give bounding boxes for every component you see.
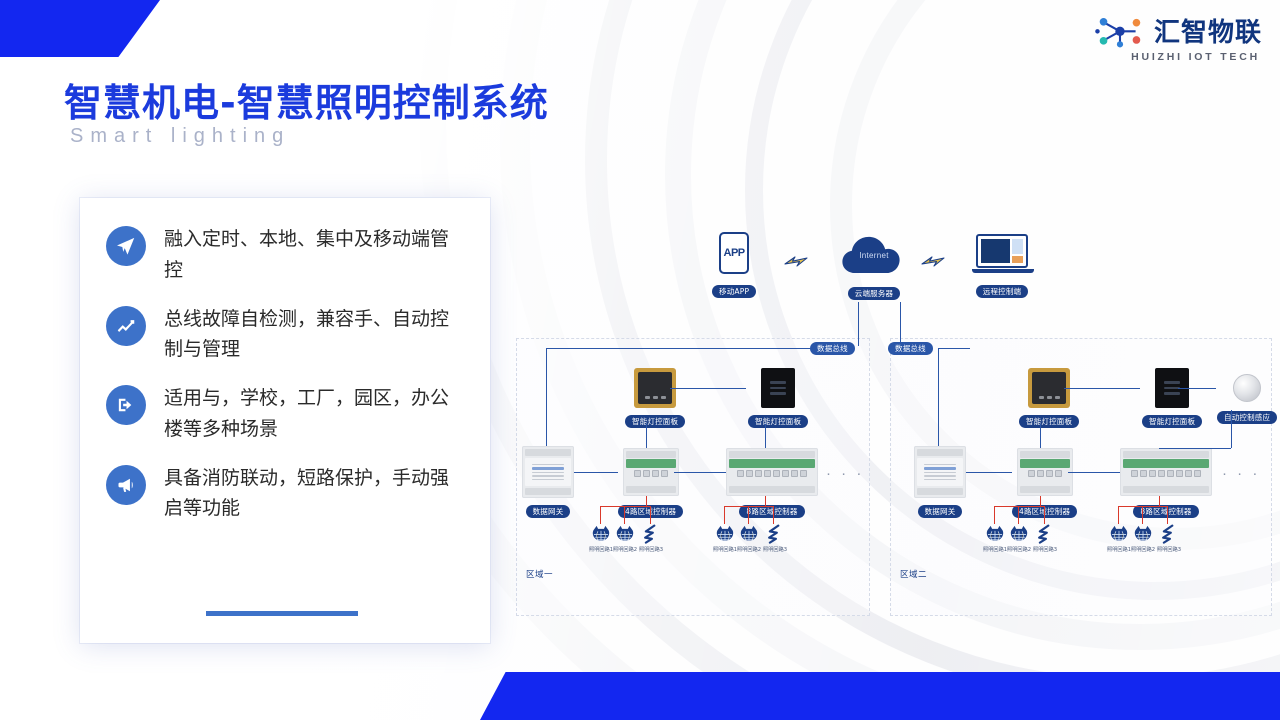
gateway-device-icon bbox=[522, 446, 574, 498]
feature-item: 适用与，学校，工厂，园区，办公楼等多种场景 bbox=[106, 383, 468, 445]
feature-text: 总线故障自检测，兼容手、自动控制与管理 bbox=[164, 304, 454, 366]
node-label-remote-control: 远程控制端 bbox=[976, 285, 1029, 298]
power-leg-3-zone1 bbox=[650, 506, 651, 524]
node-label-mobile-app: 移动APP bbox=[712, 285, 756, 298]
circuit-label: 照明回路1 bbox=[713, 546, 737, 553]
wire-panel-to-panel-zone2 bbox=[1064, 388, 1140, 389]
circuit-label: 照明回路1 bbox=[589, 546, 613, 553]
circuit-label: 照明回路3 bbox=[763, 546, 787, 553]
wire-sensor-down-zone2 bbox=[1231, 410, 1232, 448]
zone-label-2: 区域二 bbox=[900, 568, 927, 580]
power-leg-6-zone2 bbox=[1167, 506, 1168, 524]
lamp-icon bbox=[738, 524, 760, 544]
bus-drop-left bbox=[546, 348, 547, 452]
power-drop-ctrl4-zone1 bbox=[646, 496, 647, 506]
wire-icon bbox=[1158, 524, 1180, 544]
circuit-label: 照明回路2 bbox=[1007, 546, 1031, 553]
node-gateway-zone1[interactable]: 数据网关 bbox=[522, 446, 574, 518]
node-label-light-panel-gold-zone2: 智能灯控面板 bbox=[1019, 415, 1079, 428]
feature-card: 融入定时、本地、集中及移动端管控 总线故障自检测，兼容手、自动控制与管理 适用与… bbox=[80, 198, 490, 643]
wire-cloud-to-bus-right bbox=[900, 302, 901, 346]
din-controller-icon bbox=[1120, 448, 1212, 496]
light-control-panel-icon bbox=[761, 368, 795, 408]
lamp-icon bbox=[1008, 524, 1030, 544]
power-leg-4-zone2 bbox=[1118, 506, 1119, 524]
brand-name-cn: 汇智物联 bbox=[1154, 12, 1262, 49]
node-label-auto-sensor-zone2: 自动控制感应 bbox=[1217, 411, 1277, 424]
page-subtitle: Smart lighting bbox=[70, 125, 290, 148]
circuit-zone1-1[interactable]: 照明回路1 bbox=[589, 524, 613, 553]
lamp-icon bbox=[984, 524, 1006, 544]
wire-icon bbox=[640, 524, 662, 544]
feature-item: 具备消防联动，短路保护，手动强启等功能 bbox=[106, 463, 468, 525]
power-leg-5-zone2 bbox=[1142, 506, 1143, 524]
wire-icon bbox=[764, 524, 786, 544]
circuit-zone1-2[interactable]: 照明回路2 bbox=[613, 524, 637, 553]
system-architecture-diagram: 区域一 区域二 APP 移动APP Internet 云端服务器 远程控制端 bbox=[500, 210, 1280, 630]
power-drop-ctrl8-zone2 bbox=[1159, 496, 1160, 506]
wire-panel-to-panel-zone1 bbox=[670, 388, 746, 389]
wire-panel-black-down-zone1 bbox=[765, 424, 766, 448]
node-mobile-app[interactable]: APP 移动APP bbox=[712, 232, 756, 298]
node-light-panel-black-zone2[interactable]: 智能灯控面板 bbox=[1142, 368, 1202, 428]
circuit-zone1-4[interactable]: 照明回路1 bbox=[713, 524, 737, 553]
feature-text: 适用与，学校，工厂，园区，办公楼等多种场景 bbox=[164, 383, 454, 445]
bus-run-left bbox=[546, 348, 810, 349]
send-plane-icon bbox=[106, 226, 146, 266]
bus-label-2: 数据总线 bbox=[888, 342, 933, 355]
circuit-label: 照明回路1 bbox=[983, 546, 1007, 553]
circuit-label: 照明回路3 bbox=[1033, 546, 1057, 553]
node-label-gateway-zone1: 数据网关 bbox=[526, 505, 571, 518]
din-controller-icon bbox=[1017, 448, 1073, 496]
brand-name-en: HUIZHI IOT TECH bbox=[1131, 51, 1260, 63]
node-label-cloud-server: 云端服务器 bbox=[848, 287, 901, 300]
wire-gateway-to-ctrl4-zone1 bbox=[574, 472, 618, 473]
power-leg-1-zone1 bbox=[600, 506, 601, 524]
din-controller-icon bbox=[726, 448, 818, 496]
power-drop-ctrl8-zone1 bbox=[765, 496, 766, 506]
circuit-zone1-3[interactable]: 照明回路3 bbox=[639, 524, 663, 553]
ellipsis-zone1: · · · bbox=[826, 466, 864, 481]
node-light-panel-gold-zone1[interactable]: 智能灯控面板 bbox=[625, 368, 685, 428]
power-leg-5-zone1 bbox=[748, 506, 749, 524]
circuit-label: 照明回路2 bbox=[1131, 546, 1155, 553]
circuit-label: 照明回路2 bbox=[737, 546, 761, 553]
feature-item: 总线故障自检测，兼容手、自动控制与管理 bbox=[106, 304, 468, 366]
wireless-bolt-icon-right bbox=[920, 253, 946, 271]
circuit-zone2-5[interactable]: 照明回路2 bbox=[1131, 524, 1155, 553]
power-leg-1-zone2 bbox=[994, 506, 995, 524]
feature-text: 具备消防联动，短路保护，手动强启等功能 bbox=[164, 463, 454, 525]
circuit-zone2-1[interactable]: 照明回路1 bbox=[983, 524, 1007, 553]
molecule-network-icon bbox=[1094, 14, 1146, 48]
circuit-label: 照明回路1 bbox=[1107, 546, 1131, 553]
lamp-icon bbox=[1108, 524, 1130, 544]
node-remote-control[interactable]: 远程控制端 bbox=[972, 234, 1032, 298]
circuit-zone2-6[interactable]: 照明回路3 bbox=[1157, 524, 1181, 553]
page-title: 智慧机电-智慧照明控制系统 bbox=[64, 72, 549, 127]
lamp-icon bbox=[1132, 524, 1154, 544]
phone-icon: APP bbox=[719, 232, 749, 274]
node-label-light-panel-black-zone2: 智能灯控面板 bbox=[1142, 415, 1202, 428]
power-leg-2-zone2 bbox=[1018, 506, 1019, 524]
circuit-zone1-5[interactable]: 照明回路2 bbox=[737, 524, 761, 553]
wire-panel-to-sensor-zone2 bbox=[1178, 388, 1216, 389]
lamp-icon bbox=[714, 524, 736, 544]
node-gateway-zone2[interactable]: 数据网关 bbox=[914, 446, 966, 518]
lamp-icon bbox=[614, 524, 636, 544]
megaphone-icon bbox=[106, 465, 146, 505]
power-leg-2-zone1 bbox=[624, 506, 625, 524]
wire-ctrl4-to-ctrl8-zone2 bbox=[1068, 472, 1120, 473]
circuit-label: 照明回路3 bbox=[1157, 546, 1181, 553]
power-leg-4-zone1 bbox=[724, 506, 725, 524]
corner-accent-bottom-right bbox=[480, 672, 1280, 720]
power-drop-ctrl4-zone2 bbox=[1040, 496, 1041, 506]
node-auto-sensor-zone2[interactable]: 自动控制感应 bbox=[1217, 374, 1277, 424]
node-label-gateway-zone2: 数据网关 bbox=[918, 505, 963, 518]
brand-logo: 汇智物联 HUIZHI IOT TECH bbox=[1094, 12, 1262, 63]
bus-drop-right bbox=[938, 348, 939, 452]
node-light-panel-black-zone1[interactable]: 智能灯控面板 bbox=[748, 368, 808, 428]
cloud-icon: Internet bbox=[838, 232, 910, 278]
node-light-panel-gold-zone2[interactable]: 智能灯控面板 bbox=[1019, 368, 1079, 428]
motion-sensor-icon bbox=[1233, 374, 1261, 402]
wire-icon bbox=[1034, 524, 1056, 544]
wire-cloud-to-bus-left bbox=[858, 302, 859, 346]
wire-panel-gold-down-zone1 bbox=[646, 424, 647, 448]
ellipsis-zone2: · · · bbox=[1222, 466, 1260, 481]
circuit-label: 照明回路2 bbox=[613, 546, 637, 553]
bus-label-1: 数据总线 bbox=[810, 342, 855, 355]
circuit-zone2-3[interactable]: 照明回路3 bbox=[1033, 524, 1057, 553]
line-chart-icon bbox=[106, 306, 146, 346]
circuit-label: 照明回路3 bbox=[639, 546, 663, 553]
node-cloud-server[interactable]: Internet 云端服务器 bbox=[838, 232, 910, 300]
circuit-zone2-2[interactable]: 照明回路2 bbox=[1007, 524, 1031, 553]
circuit-zone2-4[interactable]: 照明回路1 bbox=[1107, 524, 1131, 553]
laptop-icon bbox=[972, 234, 1032, 276]
logout-arrow-icon bbox=[106, 385, 146, 425]
wire-gateway-to-ctrl4-zone2 bbox=[966, 472, 1012, 473]
node-label-light-panel-black-zone1: 智能灯控面板 bbox=[748, 415, 808, 428]
wire-panel-gold-down-zone2 bbox=[1040, 424, 1041, 448]
wire-sensor-to-ctrl8-zone2 bbox=[1159, 448, 1231, 449]
wire-ctrl4-to-ctrl8-zone1 bbox=[674, 472, 726, 473]
wireless-bolt-icon-left bbox=[783, 253, 809, 271]
card-underline-accent bbox=[206, 611, 358, 616]
zone-label-1: 区域一 bbox=[526, 568, 553, 580]
app-text: APP bbox=[724, 247, 745, 259]
gateway-device-icon bbox=[914, 446, 966, 498]
node-label-light-panel-gold-zone1: 智能灯控面板 bbox=[625, 415, 685, 428]
din-controller-icon bbox=[623, 448, 679, 496]
bus-run-right bbox=[938, 348, 970, 349]
feature-item: 融入定时、本地、集中及移动端管控 bbox=[106, 224, 468, 286]
power-leg-6-zone1 bbox=[773, 506, 774, 524]
feature-text: 融入定时、本地、集中及移动端管控 bbox=[164, 224, 454, 286]
lamp-icon bbox=[590, 524, 612, 544]
cloud-label-internet: Internet bbox=[838, 251, 910, 260]
circuit-zone1-6[interactable]: 照明回路3 bbox=[763, 524, 787, 553]
power-leg-3-zone2 bbox=[1044, 506, 1045, 524]
